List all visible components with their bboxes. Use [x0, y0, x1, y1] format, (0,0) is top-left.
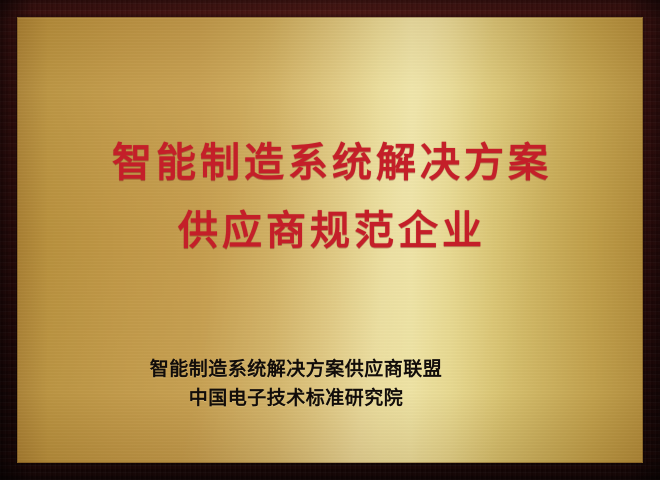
plaque-issuer-line-1: 智能制造系统解决方案供应商联盟	[17, 355, 575, 384]
plate-content: 智能制造系统解决方案 供应商规范企业 智能制造系统解决方案供应商联盟 中国电子技…	[17, 17, 643, 463]
plaque-issuer-line-2: 中国电子技术标准研究院	[17, 384, 575, 413]
plaque-issuer: 智能制造系统解决方案供应商联盟 中国电子技术标准研究院	[17, 355, 643, 413]
gold-plate: 智能制造系统解决方案 供应商规范企业 智能制造系统解决方案供应商联盟 中国电子技…	[17, 17, 643, 463]
plaque-title: 智能制造系统解决方案 供应商规范企业	[17, 129, 643, 265]
award-plaque: 智能制造系统解决方案 供应商规范企业 智能制造系统解决方案供应商联盟 中国电子技…	[0, 0, 660, 480]
plaque-title-line-1: 智能制造系统解决方案	[17, 129, 643, 197]
plaque-title-line-2: 供应商规范企业	[17, 197, 643, 265]
